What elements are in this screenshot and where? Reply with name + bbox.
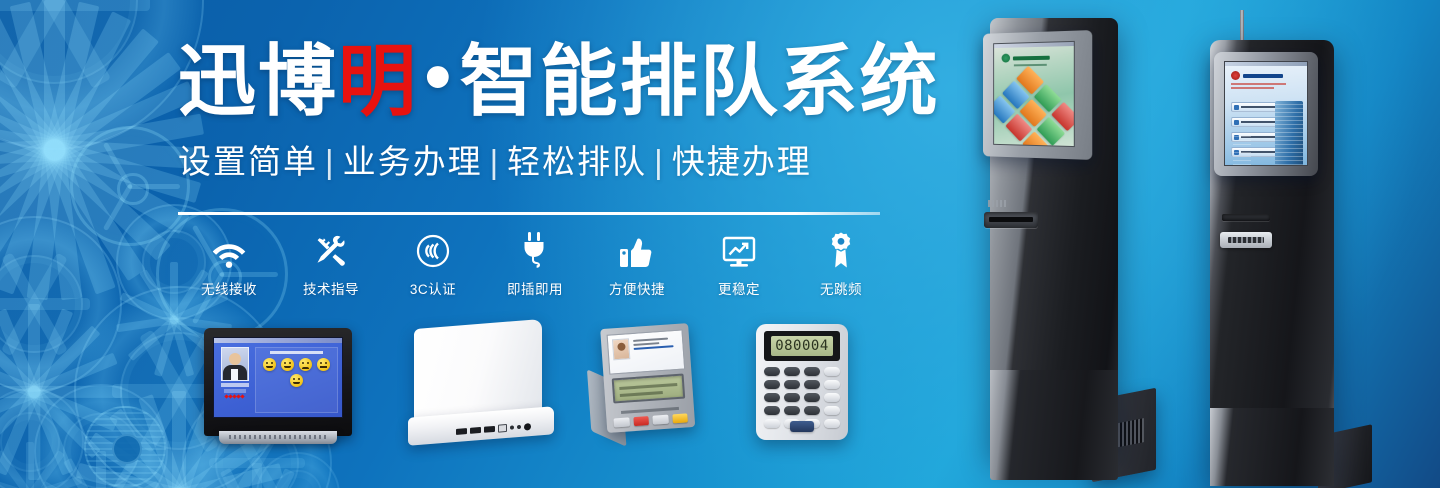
circuit-gear-icon (84, 406, 166, 488)
title-separator-dot: • (418, 42, 460, 115)
feature-item-3c-certification: 3C认证 (382, 228, 484, 298)
question-text-line (270, 351, 322, 354)
product-queue-kiosk-abc (966, 18, 1154, 488)
feature-item-technical-support: 技术指导 (280, 228, 382, 298)
keypad-key[interactable] (804, 367, 820, 376)
keypad-key[interactable] (784, 367, 800, 376)
feature-item-no-frequency-hopping: 无跳频 (790, 228, 892, 298)
feature-label: 更稳定 (718, 278, 760, 298)
kiosk-lower-column (990, 370, 1118, 480)
keypad-key[interactable] (824, 419, 840, 428)
subtitle-item-2: 业务办理 (343, 143, 483, 180)
feature-item-stability: 更稳定 (688, 228, 790, 298)
keypad-key[interactable] (784, 406, 800, 415)
feature-item-convenient: 方便快捷 (586, 228, 688, 298)
face-complaint-icon[interactable] (290, 374, 303, 387)
gear-icon (34, 384, 168, 488)
rating-stars (225, 395, 244, 398)
kiosk-touchscreen[interactable] (993, 41, 1075, 147)
keypad-body: 080004 (756, 324, 848, 440)
feature-label: 方便快捷 (609, 278, 665, 298)
chart-monitor-icon (722, 228, 756, 268)
page-title: 迅博明•智能排队系统 (178, 36, 894, 125)
evaluator-button-panel (613, 406, 688, 427)
headline-block: 迅博明•智能排队系统 设置简单|业务办理|轻松排队|快捷办理 (178, 36, 894, 183)
bank-seal-icon (1231, 71, 1240, 80)
face-satisfied-icon[interactable] (281, 358, 294, 371)
subtitle-item-3: 轻松排队 (507, 143, 647, 180)
gear-icon (0, 388, 84, 488)
keypad-key[interactable] (764, 367, 780, 376)
keypad-key[interactable] (804, 380, 820, 389)
product-caller-keypad: 080004 (756, 324, 848, 440)
monitor-stand (219, 431, 337, 444)
kiosk-lower-column (1210, 408, 1334, 486)
title-part-1: 迅博 (178, 37, 338, 127)
evaluator-button-satisfied[interactable] (613, 417, 629, 427)
thumbs-up-icon (619, 228, 655, 268)
staff-nameplate (224, 389, 246, 393)
keypad-key[interactable] (804, 393, 820, 402)
power-plug-icon (519, 228, 551, 268)
ticket-dispenser-slot (984, 212, 1038, 228)
product-wireless-host-box (408, 324, 554, 440)
feature-label: 无线接收 (201, 278, 257, 298)
title-accent-character: 明 (338, 37, 418, 127)
keypad-key[interactable] (764, 419, 780, 428)
keypad-key[interactable] (824, 406, 840, 415)
subtitle: 设置简单|业务办理|轻松排队|快捷办理 (178, 141, 894, 183)
tools-icon (314, 228, 348, 268)
host-panel (414, 319, 542, 421)
keypad-key[interactable] (824, 367, 840, 376)
kiosk-touchscreen[interactable] (1224, 61, 1308, 166)
keypad-key[interactable] (784, 380, 800, 389)
keypad-key[interactable] (824, 380, 840, 389)
feature-label: 即插即用 (507, 278, 563, 298)
keypad-enter-key[interactable] (790, 421, 814, 432)
lcd-number: 080004 (775, 339, 829, 353)
product-showcase: 080004 (196, 318, 896, 446)
feature-item-wireless: 无线接收 (178, 228, 280, 298)
gear-icon (256, 452, 340, 488)
bank-name-text (1243, 74, 1283, 78)
screen-notice-text (1231, 83, 1301, 89)
kiosk-display-head (1214, 52, 1318, 176)
staff-nameplate (221, 383, 249, 387)
subtitle-item-4: 快捷办理 (672, 143, 812, 180)
bank-name-english (1014, 64, 1047, 67)
staff-photo (221, 347, 249, 381)
keypad-keys (764, 367, 840, 428)
feature-label: 无跳频 (820, 278, 862, 298)
building-graphic (1275, 101, 1303, 165)
feature-label: 3C认证 (410, 278, 456, 298)
subtitle-separator: | (654, 143, 665, 180)
face-very-satisfied-icon[interactable] (263, 358, 276, 371)
gear-icon (0, 0, 204, 150)
title-part-2: 智能排队系统 (460, 37, 940, 127)
bank-seal-icon (1002, 54, 1010, 63)
satisfaction-face-options (258, 358, 335, 387)
keypad-key[interactable] (824, 393, 840, 402)
spoked-wheel-icon (70, 126, 190, 246)
keypad-lcd-display: 080004 (764, 331, 840, 361)
menu-item[interactable] (1231, 117, 1278, 127)
monitor-screen (213, 337, 343, 418)
keypad-key[interactable] (764, 393, 780, 402)
evaluator-button-neutral[interactable] (652, 415, 668, 425)
satisfaction-panel (255, 347, 338, 413)
subtitle-separator: | (490, 143, 501, 180)
evaluator-button-dissatisfied[interactable] (633, 416, 649, 426)
promo-banner: 迅博明•智能排队系统 设置简单|业务办理|轻松排队|快捷办理 无线接收 (0, 0, 1440, 488)
evaluator-lcd-display (612, 374, 686, 404)
ticket-printer-slot (1222, 214, 1270, 221)
feature-list: 无线接收 技术指导 3C认证 (178, 228, 894, 298)
award-ribbon-icon (827, 228, 855, 268)
bank-logo-abc (994, 46, 1074, 63)
keypad-key[interactable] (784, 393, 800, 402)
subtitle-item-1: 设置简单 (178, 143, 318, 180)
bank-name-text (1013, 55, 1050, 60)
divider (178, 212, 880, 215)
face-dissatisfied-icon[interactable] (299, 358, 312, 371)
building-graphic-small (1233, 135, 1251, 165)
screen-titlebar (214, 338, 342, 343)
3c-certification-icon (416, 228, 450, 268)
kiosk-display-head (983, 30, 1092, 160)
keypad-key[interactable] (804, 406, 820, 415)
product-desktop-evaluator (584, 322, 712, 442)
evaluator-button-complaint[interactable] (672, 413, 688, 423)
button-caption-strip (621, 407, 679, 414)
card-reader-slot[interactable] (1220, 232, 1272, 248)
feature-label: 技术指导 (303, 278, 359, 298)
product-queue-kiosk-icbc (1196, 10, 1378, 488)
subtitle-separator: | (325, 143, 336, 180)
bank-logo-icbc (1225, 66, 1307, 80)
staff-photo (612, 338, 630, 360)
wifi-icon (210, 228, 248, 268)
product-evaluator-monitor (204, 328, 352, 436)
feature-item-plug-and-play: 即插即用 (484, 228, 586, 298)
evaluator-body (600, 323, 695, 433)
gear-icon (0, 216, 122, 392)
keypad-key[interactable] (764, 380, 780, 389)
keypad-key[interactable] (764, 406, 780, 415)
monitor-bezel (204, 328, 352, 436)
face-neutral-icon[interactable] (317, 358, 330, 371)
staff-id-card (607, 329, 686, 374)
slot-label-icon (988, 200, 1008, 207)
menu-item[interactable] (1231, 102, 1278, 112)
service-icon-grid[interactable] (993, 66, 1075, 147)
staff-panel (218, 347, 251, 413)
